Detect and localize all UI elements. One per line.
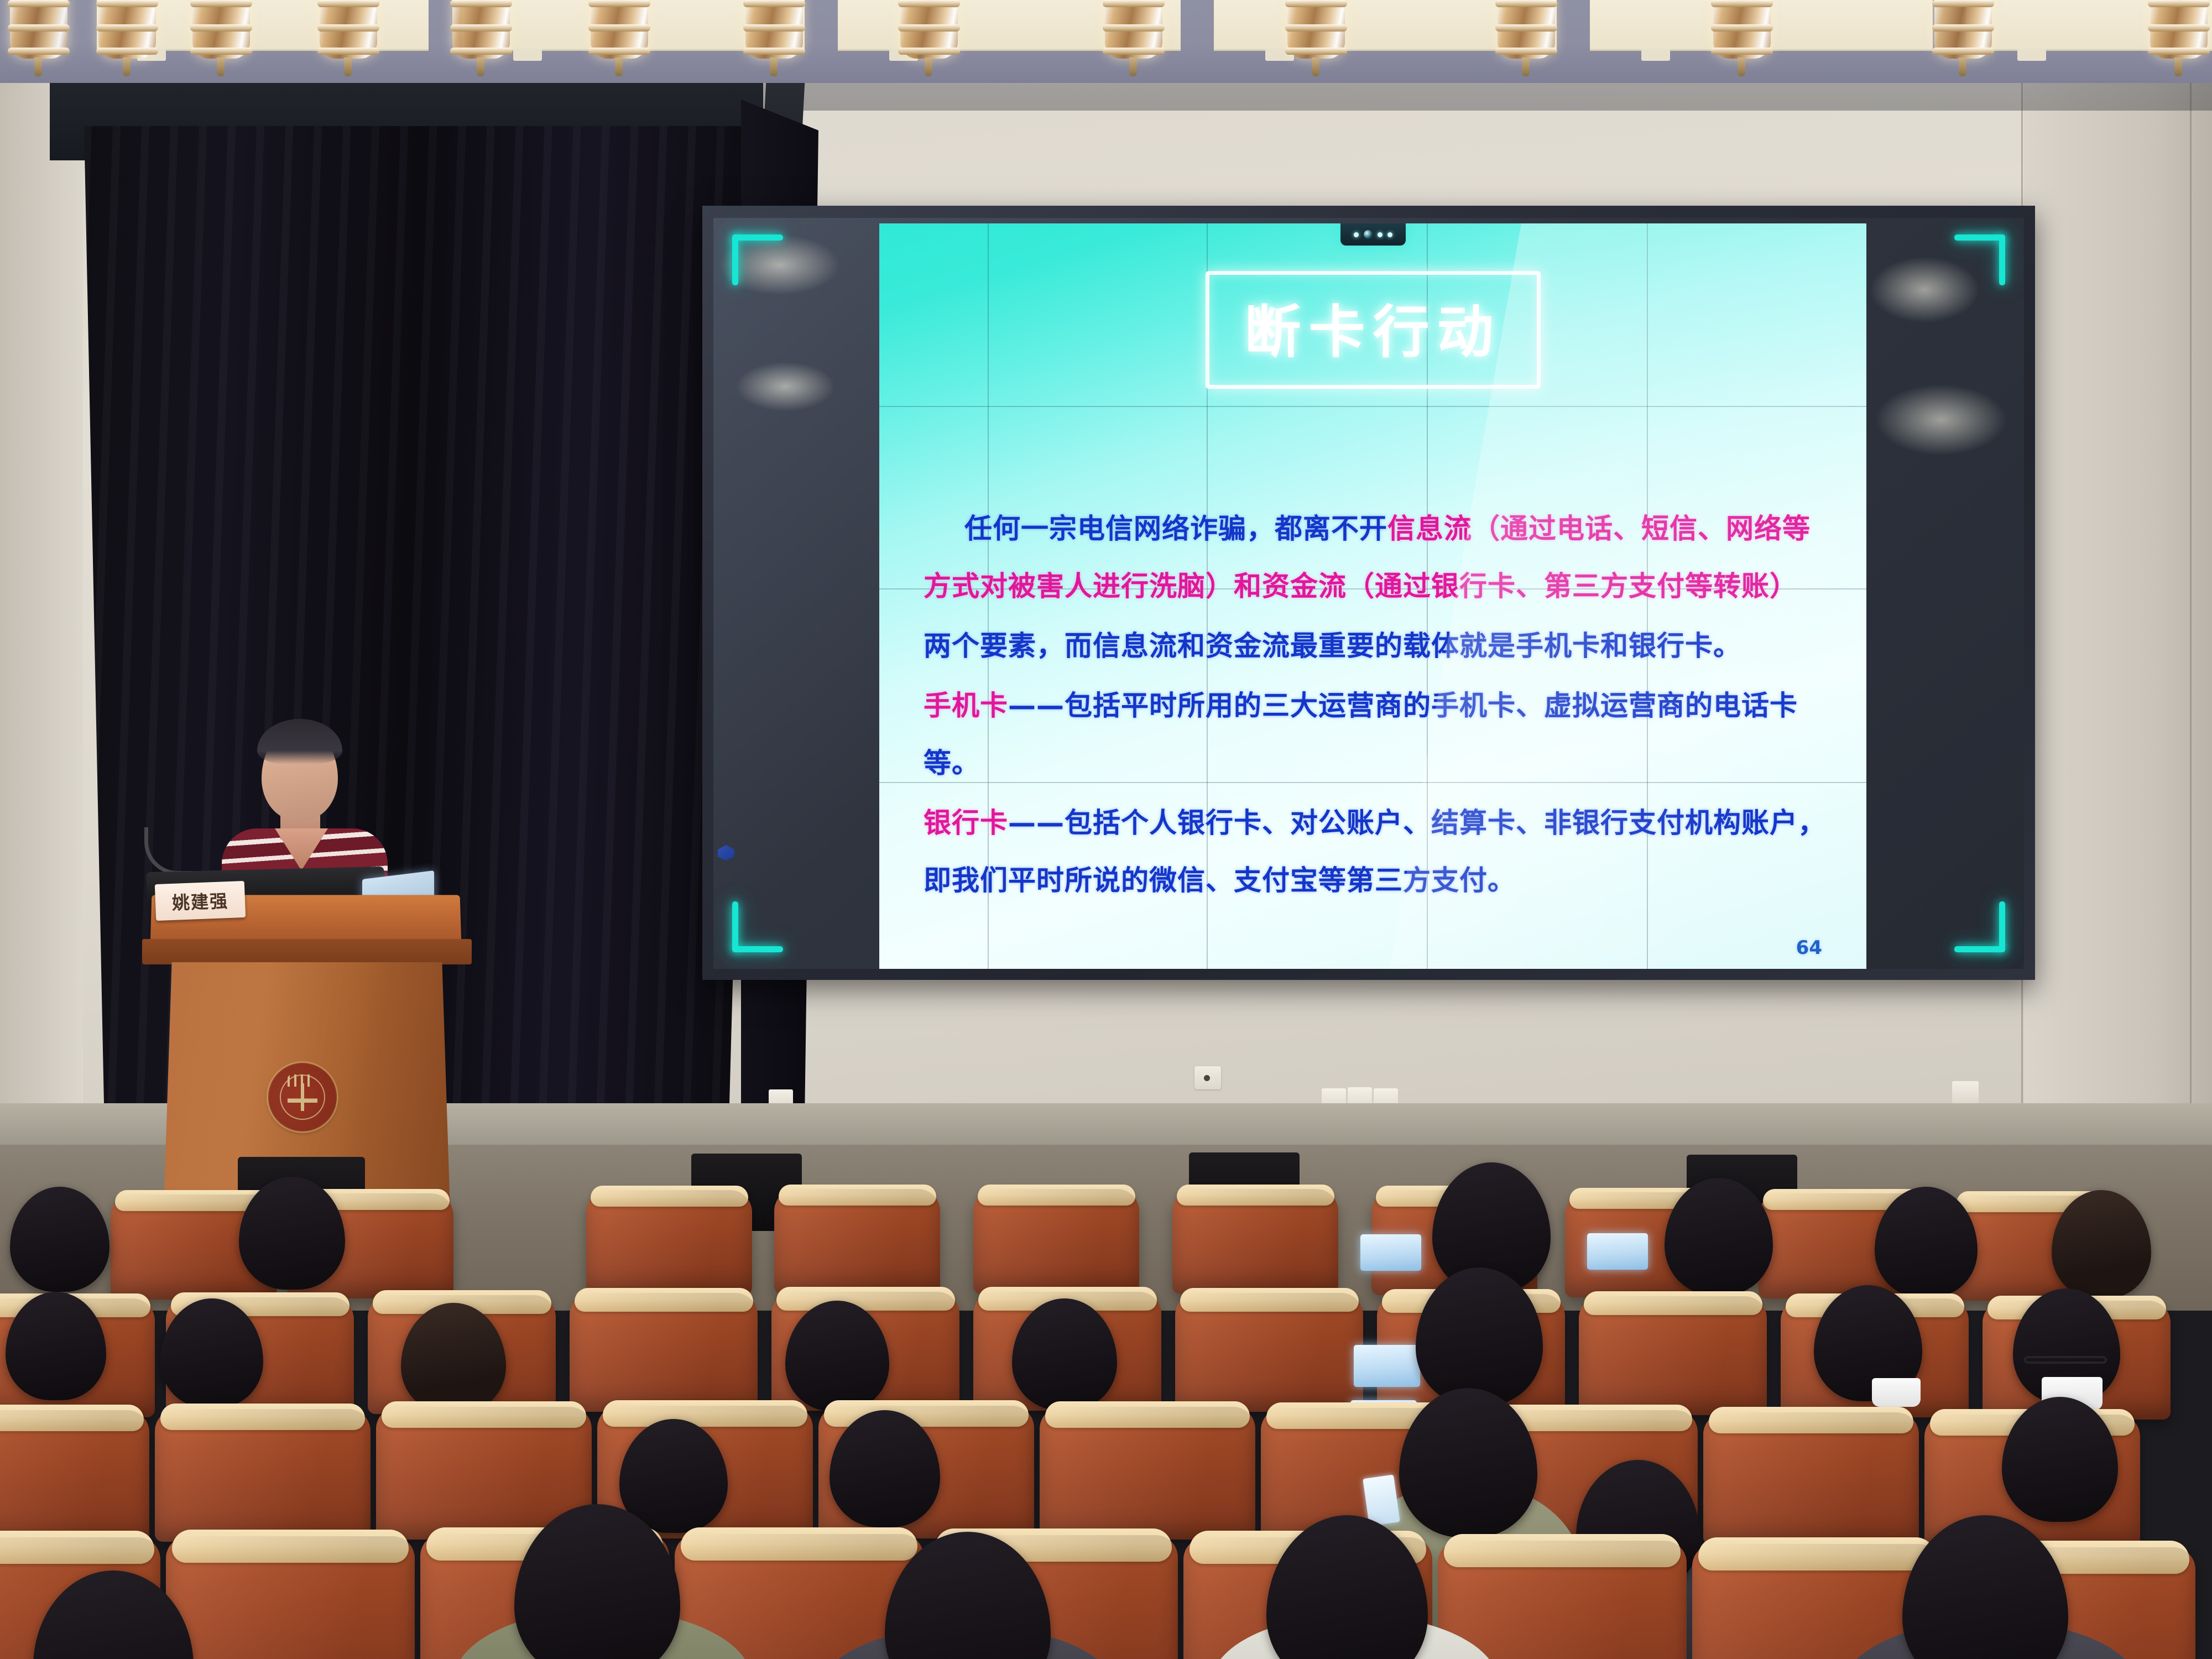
seat[interactable] bbox=[0, 1410, 149, 1543]
video-wall-panel: 断卡行动 任何一宗电信网络诈骗，都离不开信息流（通过电话、短信、网络等 方式对被… bbox=[713, 218, 2024, 969]
slide-run: 任何一宗电信网络诈骗，都离不开 bbox=[964, 513, 1387, 545]
ceiling-lamp-icon bbox=[1493, 0, 1559, 75]
seat[interactable] bbox=[1040, 1407, 1255, 1540]
seat-screen[interactable] bbox=[1354, 1345, 1420, 1387]
seat-screen[interactable] bbox=[1587, 1233, 1648, 1270]
ceiling-lamp-icon bbox=[896, 0, 962, 75]
auditorium-photo: 断卡行动 任何一宗电信网络诈骗，都离不开信息流（通过电话、短信、网络等 方式对被… bbox=[0, 0, 2212, 1659]
ceiling-lamp-icon bbox=[586, 0, 653, 75]
seat[interactable] bbox=[155, 1409, 371, 1542]
corner-bracket-icon bbox=[732, 901, 783, 952]
ceiling-lamp-icon bbox=[1709, 0, 1775, 75]
ceiling bbox=[0, 0, 2212, 83]
slide-run: 银行卡 bbox=[924, 807, 1008, 839]
slide-paragraph: 两个要素，而信息流和资金流最重要的载体就是手机卡和银行卡。 bbox=[924, 617, 1833, 675]
left-wall-return bbox=[0, 83, 83, 1161]
microphone-icon bbox=[144, 827, 208, 875]
seat[interactable] bbox=[1703, 1412, 1919, 1545]
ceiling-lamp-icon bbox=[741, 0, 807, 75]
ceiling-lamp-icon bbox=[448, 0, 514, 75]
slide-title-container: 断卡行动 bbox=[879, 271, 1866, 389]
slide-line: 方式对被害人进行洗脑）和资金流（通过银行卡、第三方支付等转账） bbox=[924, 557, 1833, 615]
camera-sensor-icon bbox=[1340, 223, 1406, 246]
seat[interactable] bbox=[973, 1189, 1139, 1294]
ceiling-lamp-icon bbox=[2146, 0, 2212, 75]
seat[interactable] bbox=[1175, 1293, 1363, 1412]
corner-bracket-icon bbox=[1954, 901, 2005, 952]
slide-run: ——包括个人银行卡、对公账户、结算卡、非银行支付机构账户， bbox=[1008, 807, 1826, 839]
video-wall[interactable]: 断卡行动 任何一宗电信网络诈骗，都离不开信息流（通过电话、短信、网络等 方式对被… bbox=[702, 206, 2035, 980]
slide-run: 等。 bbox=[924, 747, 980, 779]
slide-paragraph: 手机卡——包括平时所用的三大运营商的手机卡、虚拟运营商的电话卡 等。 bbox=[924, 677, 1833, 792]
right-wall-return bbox=[2024, 83, 2212, 1178]
slide-paragraph: 任何一宗电信网络诈骗，都离不开信息流（通过电话、短信、网络等 方式对被害人进行洗… bbox=[924, 500, 1833, 615]
university-seal-icon bbox=[268, 1063, 337, 1131]
slide-paragraph: 银行卡——包括个人银行卡、对公账户、结算卡、非银行支付机构账户， 即我们平时所说… bbox=[924, 794, 1833, 909]
ceiling-lamp-icon bbox=[315, 0, 382, 75]
seat-screen[interactable] bbox=[1360, 1234, 1421, 1271]
speaker-hair bbox=[257, 719, 342, 764]
slide-body: 任何一宗电信网络诈骗，都离不开信息流（通过电话、短信、网络等 方式对被害人进行洗… bbox=[924, 500, 1833, 911]
wall-outlet[interactable] bbox=[1952, 1081, 1979, 1103]
seat[interactable] bbox=[1172, 1189, 1338, 1294]
slide-run: 手机卡 bbox=[924, 690, 1008, 722]
ceiling-lamp-icon bbox=[94, 0, 160, 75]
slide-line: 两个要素，而信息流和资金流最重要的载体就是手机卡和银行卡。 bbox=[924, 617, 1833, 675]
slide-line: 手机卡——包括平时所用的三大运营商的手机卡、虚拟运营商的电话卡 bbox=[924, 677, 1833, 734]
slide-line: 等。 bbox=[924, 734, 1833, 792]
seat[interactable] bbox=[166, 1536, 415, 1659]
audience-head bbox=[10, 1187, 109, 1292]
corner-bracket-icon bbox=[732, 234, 783, 285]
glasses-icon bbox=[2024, 1356, 2107, 1364]
seat[interactable] bbox=[1579, 1296, 1767, 1415]
ceiling-lamp-icon bbox=[1930, 0, 1996, 75]
seat[interactable] bbox=[586, 1190, 752, 1295]
ceiling-lamp-icon bbox=[188, 0, 254, 75]
nameplate: 姚建强 bbox=[155, 881, 246, 921]
slide-line: 任何一宗电信网络诈骗，都离不开信息流（通过电话、短信、网络等 bbox=[924, 500, 1833, 557]
slide-page-number: 64 bbox=[1796, 937, 1822, 959]
slide-title-frame: 断卡行动 bbox=[1206, 271, 1541, 389]
seat[interactable] bbox=[570, 1293, 758, 1412]
slide-run: 方式对被害人进行洗脑）和资金流（通过银行卡、第三方支付等转账） bbox=[924, 570, 1798, 602]
slide-run: 信息流（通过电话、短信、网络等 bbox=[1387, 513, 1811, 545]
nameplate-text: 姚建强 bbox=[171, 887, 229, 915]
ceiling-lamp-icon bbox=[1283, 0, 1349, 75]
ceiling-lamp-icon bbox=[6, 0, 72, 75]
podium-shelf bbox=[142, 939, 472, 964]
seat[interactable] bbox=[1438, 1541, 1687, 1659]
slide-line: 银行卡——包括个人银行卡、对公账户、结算卡、非银行支付机构账户， bbox=[924, 794, 1833, 852]
audience-seating bbox=[0, 1150, 2212, 1659]
slide-watermark-icon bbox=[718, 845, 734, 860]
presentation-slide: 断卡行动 任何一宗电信网络诈骗，都离不开信息流（通过电话、短信、网络等 方式对被… bbox=[879, 223, 1866, 969]
corner-bracket-icon bbox=[1954, 234, 2005, 285]
slide-run: 即我们平时所说的微信、支付宝等第三方支付。 bbox=[924, 864, 1516, 896]
slide-run: ——包括平时所用的三大运营商的手机卡、虚拟运营商的电话卡 bbox=[1008, 690, 1798, 722]
seat[interactable] bbox=[774, 1189, 940, 1294]
face-mask bbox=[1872, 1378, 1921, 1407]
slide-title: 断卡行动 bbox=[1245, 287, 1501, 368]
wall-mount-plate bbox=[1194, 1066, 1221, 1089]
slide-run: 两个要素，而信息流和资金流最重要的载体就是手机卡和银行卡。 bbox=[924, 630, 1741, 662]
slide-line: 即我们平时所说的微信、支付宝等第三方支付。 bbox=[924, 852, 1833, 909]
soffit-band bbox=[664, 83, 2212, 111]
ceiling-lamp-icon bbox=[1100, 0, 1167, 75]
